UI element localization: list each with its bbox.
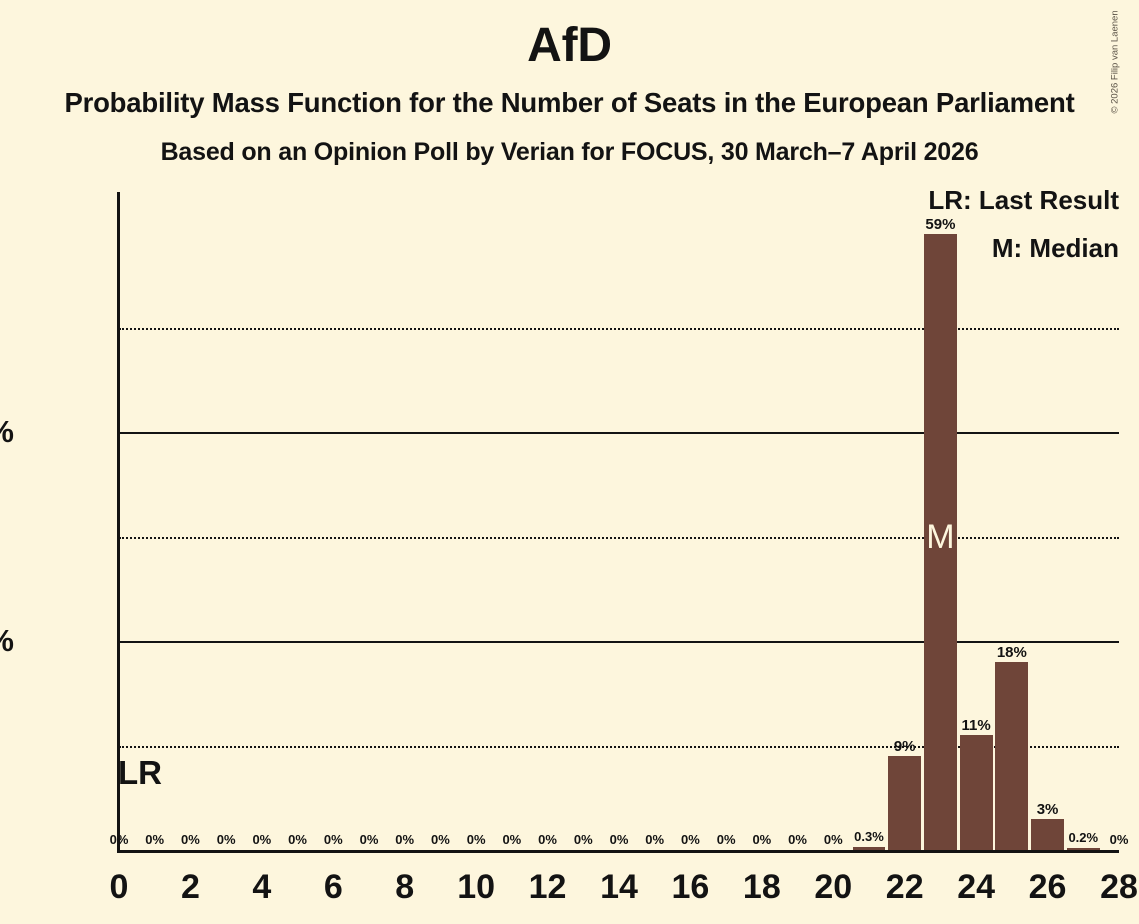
gridline-dotted (119, 537, 1119, 539)
bar-value-label: 11% (952, 718, 1000, 733)
bar-value-label: 0% (1095, 833, 1139, 846)
median-marker: M (923, 520, 959, 554)
plot-area: 0%0%0%0%0%0%0%0%0%0%0%0%0%0%0%0%0%0%0%0%… (119, 192, 1119, 850)
x-axis-tick-label: 28 (1079, 870, 1139, 904)
x-axis-tick-label: 20 (793, 870, 873, 904)
chart-subtitle: Probability Mass Function for the Number… (0, 86, 1139, 120)
y-axis-tick-label: 40% (0, 416, 14, 447)
x-axis-tick-label: 4 (222, 870, 302, 904)
y-axis-tick-label: 20% (0, 625, 14, 656)
x-axis-tick-label: 12 (508, 870, 588, 904)
x-axis-tick-label: 22 (865, 870, 945, 904)
x-axis-tick-label: 26 (1008, 870, 1088, 904)
bar-value-label: 9% (881, 739, 929, 754)
x-axis-line (117, 850, 1119, 854)
gridline-solid (119, 432, 1119, 434)
chart-page: AfD Probability Mass Function for the Nu… (0, 0, 1139, 924)
bar (888, 756, 921, 850)
chart-source-note: Based on an Opinion Poll by Verian for F… (0, 135, 1139, 169)
x-axis-tick-label: 18 (722, 870, 802, 904)
page-title: AfD (0, 18, 1139, 74)
gridline-solid (119, 641, 1119, 643)
x-axis-tick-label: 24 (936, 870, 1016, 904)
x-axis-tick-label: 0 (79, 870, 159, 904)
x-axis-tick-label: 16 (650, 870, 730, 904)
bar (1067, 848, 1100, 850)
bar-value-label: 3% (1024, 802, 1072, 817)
bar (853, 847, 886, 850)
copyright-notice: © 2026 Filip van Laenen (1110, 0, 1121, 114)
bar-value-label: 0.3% (845, 830, 893, 843)
x-axis-tick-label: 8 (365, 870, 445, 904)
x-axis-tick-label: 14 (579, 870, 659, 904)
gridline-dotted (119, 328, 1119, 330)
x-axis-tick-label: 6 (293, 870, 373, 904)
bar-value-label: 18% (988, 645, 1036, 660)
last-result-marker: LR (118, 756, 162, 789)
x-axis-tick-label: 2 (150, 870, 230, 904)
bar-value-label: 59% (917, 217, 965, 232)
y-axis-line (117, 192, 120, 850)
x-axis-tick-label: 10 (436, 870, 516, 904)
bar (995, 662, 1028, 850)
bar (960, 735, 993, 850)
